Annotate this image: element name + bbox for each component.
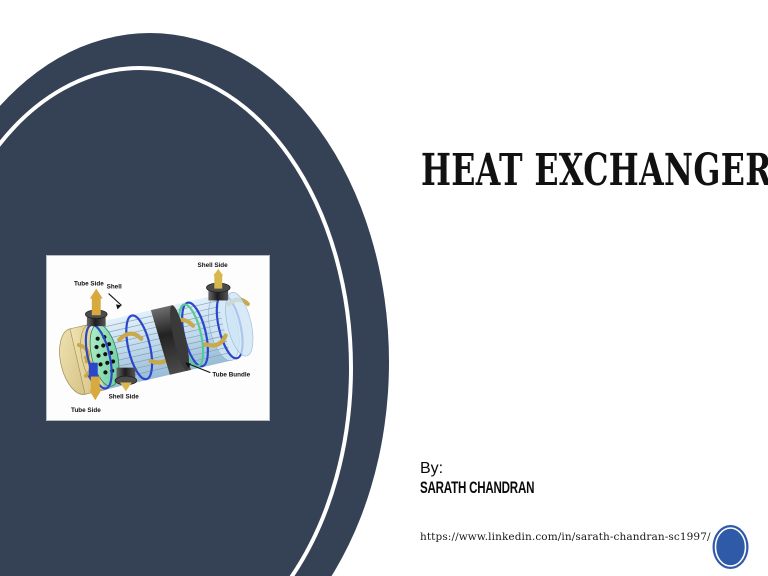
byline: By: SARATH CHANDRAN <box>420 459 588 497</box>
page-title: HEAT EXCHANGER <box>421 148 651 194</box>
heat-exchanger-image: Tube Side Shell Shell Side Tube Bundle S… <box>46 255 270 421</box>
label-tube-bundle: Tube Bundle <box>212 372 250 379</box>
byline-author-name: SARATH CHANDRAN <box>420 478 534 497</box>
title-slide: Tube Side Shell Shell Side Tube Bundle S… <box>0 0 768 576</box>
linkedin-profile-link[interactable]: https://www.linkedin.com/in/sarath-chand… <box>420 531 711 543</box>
label-shell: Shell <box>107 284 122 291</box>
label-shell-side-top: Shell Side <box>198 262 229 269</box>
heat-exchanger-diagram-svg: Tube Side Shell Shell Side Tube Bundle S… <box>47 256 269 420</box>
label-tube-side-bottom: Tube Side <box>71 407 101 414</box>
byline-label: By: <box>420 459 588 478</box>
corner-badge-icon <box>711 524 750 570</box>
label-tube-side-top: Tube Side <box>74 281 104 288</box>
label-shell-side-bottom: Shell Side <box>109 393 140 400</box>
